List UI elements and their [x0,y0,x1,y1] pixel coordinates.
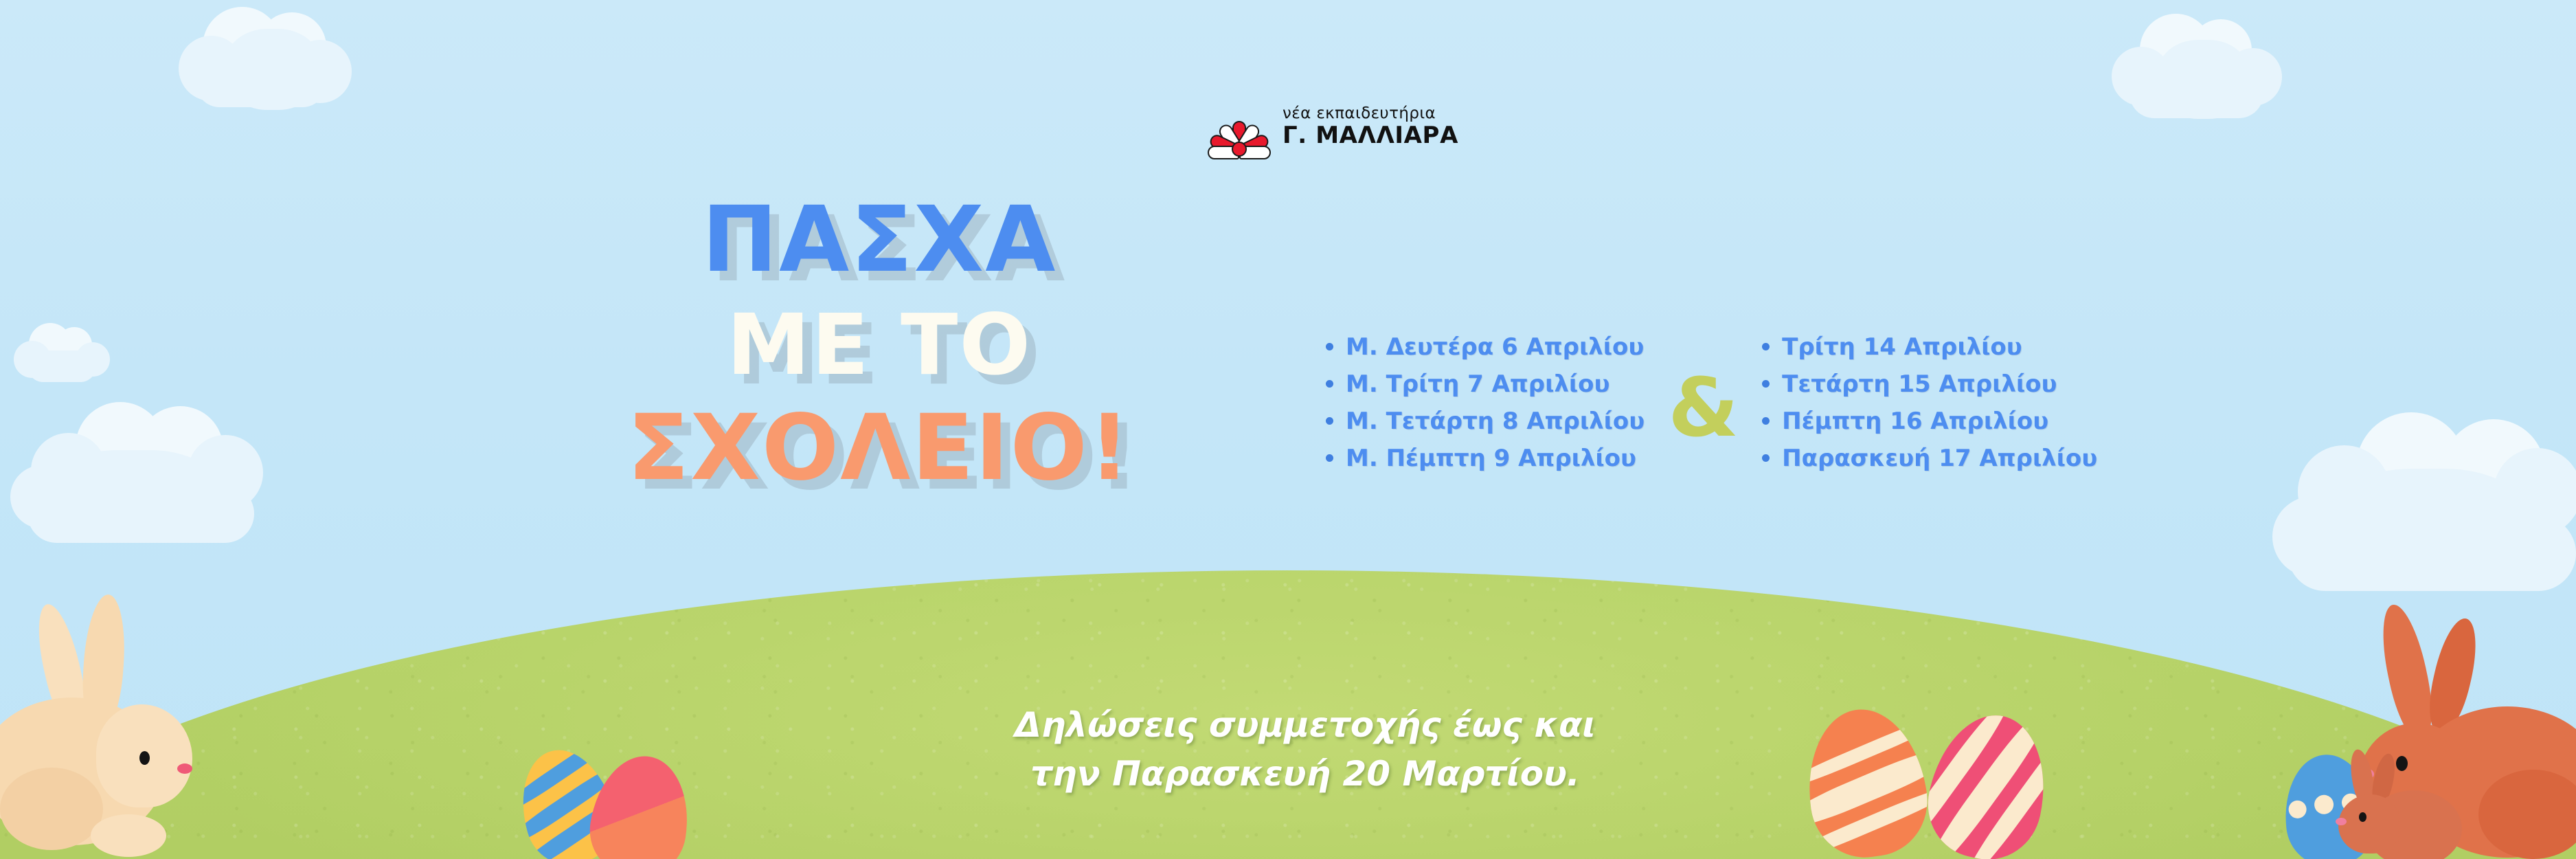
date-label: Παρασκευή 17 Απριλίου [1782,445,2097,472]
list-item: Μ. Τετάρτη 8 Απριλίου [1326,408,1645,435]
date-column-first-week: Μ. Δευτέρα 6 Απριλίου Μ. Τρίτη 7 Απριλίο… [1326,333,1645,482]
headline-line-3: ΣΧΟΛΕΙΟ! [618,401,1140,497]
deadline-line-2: την Παρασκευή 20 Μαρτίου. [914,750,1697,799]
school-logo: νέα εκπαιδευτήρια Γ. ΜΑΛΛΙΑΡΑ [1206,96,1458,157]
cloud-top-left [175,7,374,110]
list-item: Τρίτη 14 Απριλίου [1762,333,2097,361]
date-label: Τρίτη 14 Απριλίου [1782,333,2022,361]
list-item: Παρασκευή 17 Απριλίου [1762,445,2097,472]
list-item: Μ. Πέμπτη 9 Απριλίου [1326,445,1645,472]
bunny-nose [2336,818,2347,825]
bunny-orange-small [2334,749,2458,859]
bullet-icon [1326,454,1333,462]
list-item: Πέμπτη 16 Απριλίου [1762,408,2097,435]
logo-tagline: νέα εκπαιδευτήρια [1283,106,1458,122]
date-column-second-week: Τρίτη 14 Απριλίου Τετάρτη 15 Απριλίου Πέ… [1762,333,2097,482]
logo-name: Γ. ΜΑΛΛΙΑΡΑ [1283,124,1458,147]
cloud-mid-left-small [14,323,117,385]
date-label: Τετάρτη 15 Απριλίου [1782,370,2057,398]
bunny-cream-left [27,594,234,859]
bunny-paw [91,814,166,857]
date-label: Μ. Πέμπτη 9 Απριλίου [1346,445,1636,472]
list-item: Μ. Τρίτη 7 Απριλίου [1326,370,1645,398]
bullet-icon [1326,380,1333,388]
date-lists: Μ. Δευτέρα 6 Απριλίου Μ. Τρίτη 7 Απριλίο… [1326,333,2097,482]
headline-line-1: ΠΑΣΧΑ [618,192,1140,289]
headline-line-2: ΜΕ ΤΟ [618,301,1140,390]
deadline-line-1: Δηλώσεις συμμετοχής έως και [914,701,1697,750]
bullet-icon [1326,343,1333,350]
list-item: Τετάρτη 15 Απριλίου [1762,370,2097,398]
page-title: ΠΑΣΧΑ ΜΕ ΤΟ ΣΧΟΛΕΙΟ! [618,192,1140,497]
cloud-mid-left-large [3,402,278,546]
deadline-note: Δηλώσεις συμμετοχής έως και την Παρασκευ… [914,701,1697,799]
list-item: Μ. Δευτέρα 6 Απριλίου [1326,333,1645,361]
bunny-head [2338,794,2400,854]
bunny-ear [2374,601,2440,743]
easter-banner: νέα εκπαιδευτήρια Γ. ΜΑΛΛΙΑΡΑ ΠΑΣΧΑ ΜΕ Τ… [0,0,2576,859]
date-label: Μ. Δευτέρα 6 Απριλίου [1346,333,1644,361]
date-label: Πέμπτη 16 Απριλίου [1782,408,2048,435]
date-label: Μ. Τρίτη 7 Απριλίου [1346,370,1609,398]
date-label: Μ. Τετάρτη 8 Απριλίου [1346,408,1645,435]
bunny-nose [177,763,192,774]
cloud-top-right [2102,14,2308,124]
grass-hill [0,529,2576,859]
bullet-icon [1762,343,1770,350]
bunny-eye [139,751,150,765]
bullet-icon [1762,454,1770,462]
bullet-icon [1762,380,1770,388]
fan-burst-logo-icon [1206,96,1273,157]
bullet-icon [1762,417,1770,425]
bunny-haunch [0,768,103,850]
ampersand-separator: & [1662,367,1744,448]
bullet-icon [1326,417,1333,425]
bunny-eye [2359,812,2366,822]
